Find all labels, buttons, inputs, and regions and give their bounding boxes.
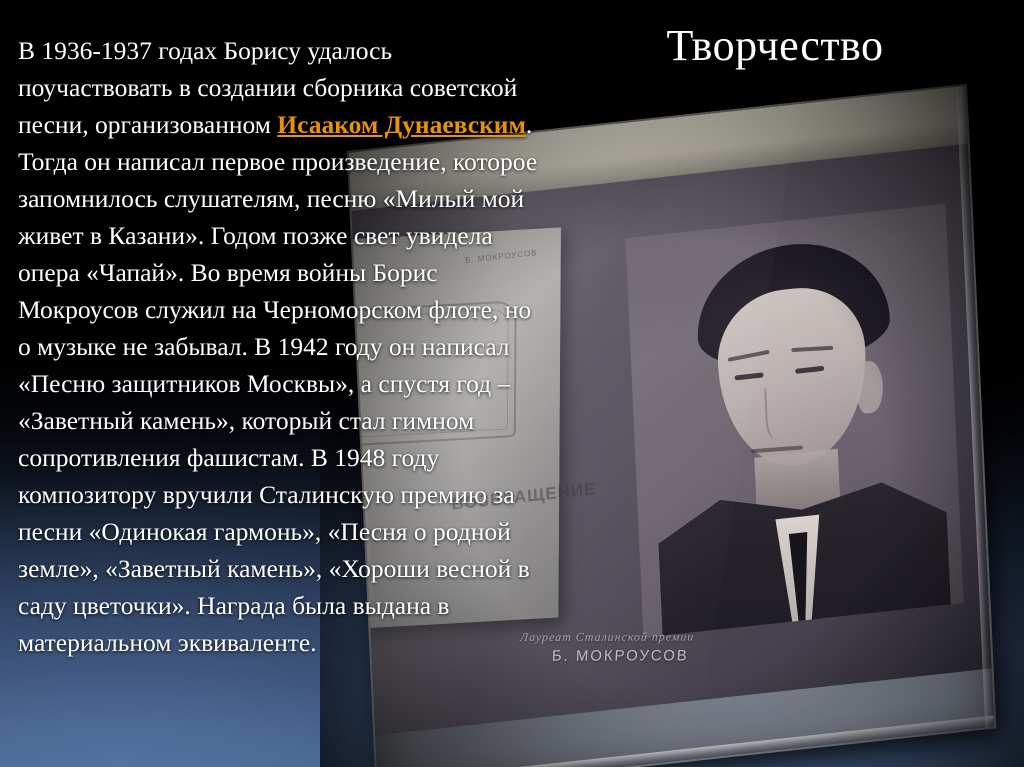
body-text-part-2: . Тогда он написал первое произведение, …	[18, 110, 537, 657]
slide-body-text: В 1936-1937 годах Борису удалось поучаст…	[18, 32, 538, 661]
slide-title: Творчество	[540, 22, 1010, 70]
presentation-slide: ЗАВЕТНЫЙ КАМЕНЬ Б. МОКРОУСОВ ВОЗВРАЩЕНИЕ	[0, 0, 1024, 767]
hyperlink-isaak-dunaevsky[interactable]: Исааком Дунаевским	[277, 110, 526, 139]
